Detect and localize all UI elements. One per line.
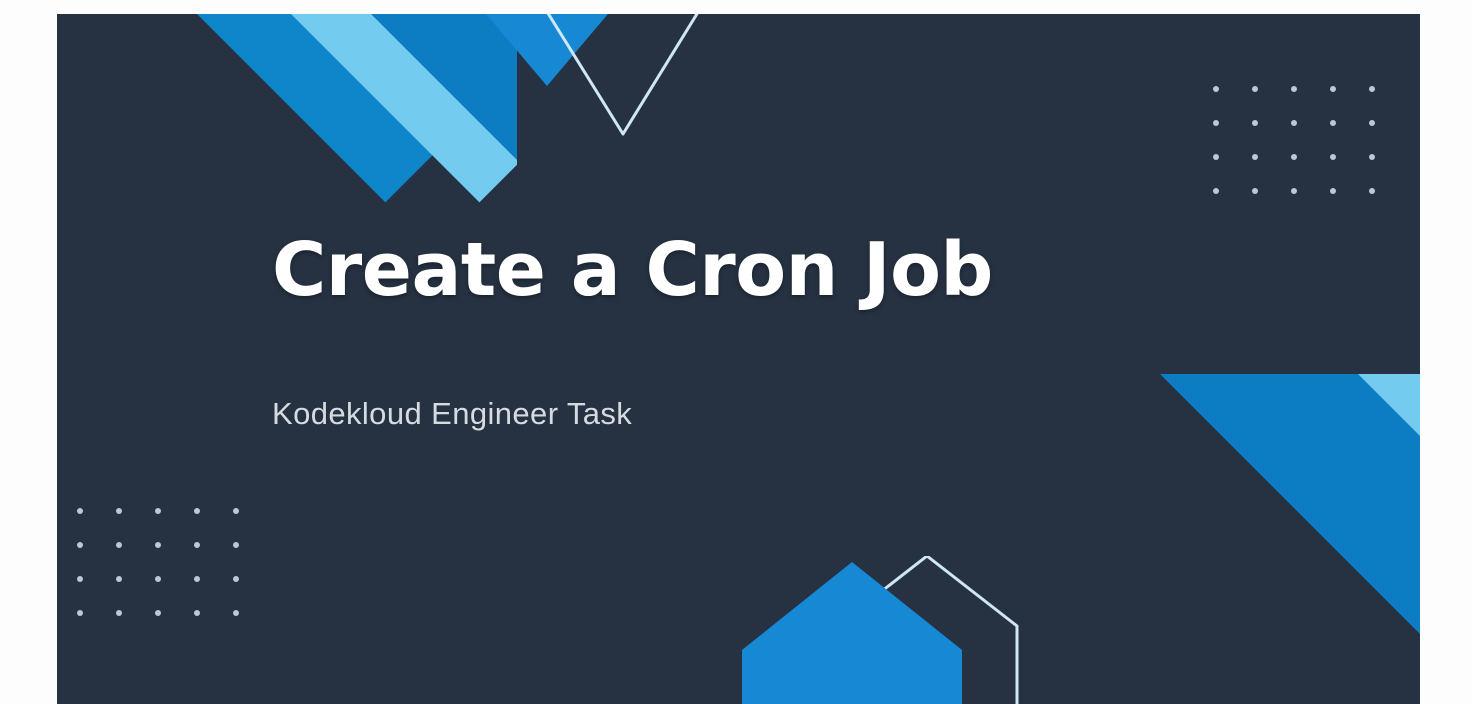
dot [1291,154,1297,160]
dot [233,508,239,514]
dot [77,610,83,616]
page-canvas: Create a Cron Job Kodekloud Engineer Tas… [0,0,1472,704]
dot [1213,154,1219,160]
dot [1330,120,1336,126]
dot [1213,86,1219,92]
dot [1330,154,1336,160]
dot [155,610,161,616]
dot [1252,188,1258,194]
dot [155,576,161,582]
dot [1291,120,1297,126]
dot [77,576,83,582]
dot [1252,154,1258,160]
dot [233,576,239,582]
dot [1369,120,1375,126]
dot [1291,86,1297,92]
dot [194,610,200,616]
presentation-slide: Create a Cron Job Kodekloud Engineer Tas… [57,14,1420,704]
dot [155,542,161,548]
dot-grid-bottom-left [77,508,239,616]
dot [1369,154,1375,160]
dot [1213,120,1219,126]
dot [155,508,161,514]
dot [77,542,83,548]
dot [1252,86,1258,92]
dot [1369,86,1375,92]
slide-subtitle: Kodekloud Engineer Task [272,396,1172,432]
dot [233,542,239,548]
hexagon-outline-icon [505,14,740,134]
dot [116,542,122,548]
dot [1213,188,1219,194]
dot [116,610,122,616]
dot [194,542,200,548]
dot [1330,188,1336,194]
dot [1369,188,1375,194]
dot [1291,188,1297,194]
dot [194,508,200,514]
dot [116,508,122,514]
hexagon-filled-icon [742,562,962,704]
dot [77,508,83,514]
slide-text-block: Create a Cron Job Kodekloud Engineer Tas… [272,232,1172,432]
page-title: Create a Cron Job [272,232,1172,310]
hexagon-top-center-outline-group [455,14,795,194]
dot-grid-top-right [1213,86,1375,194]
dot [116,576,122,582]
dot [233,610,239,616]
dot [194,576,200,582]
dot [1330,86,1336,92]
dot [1252,120,1258,126]
